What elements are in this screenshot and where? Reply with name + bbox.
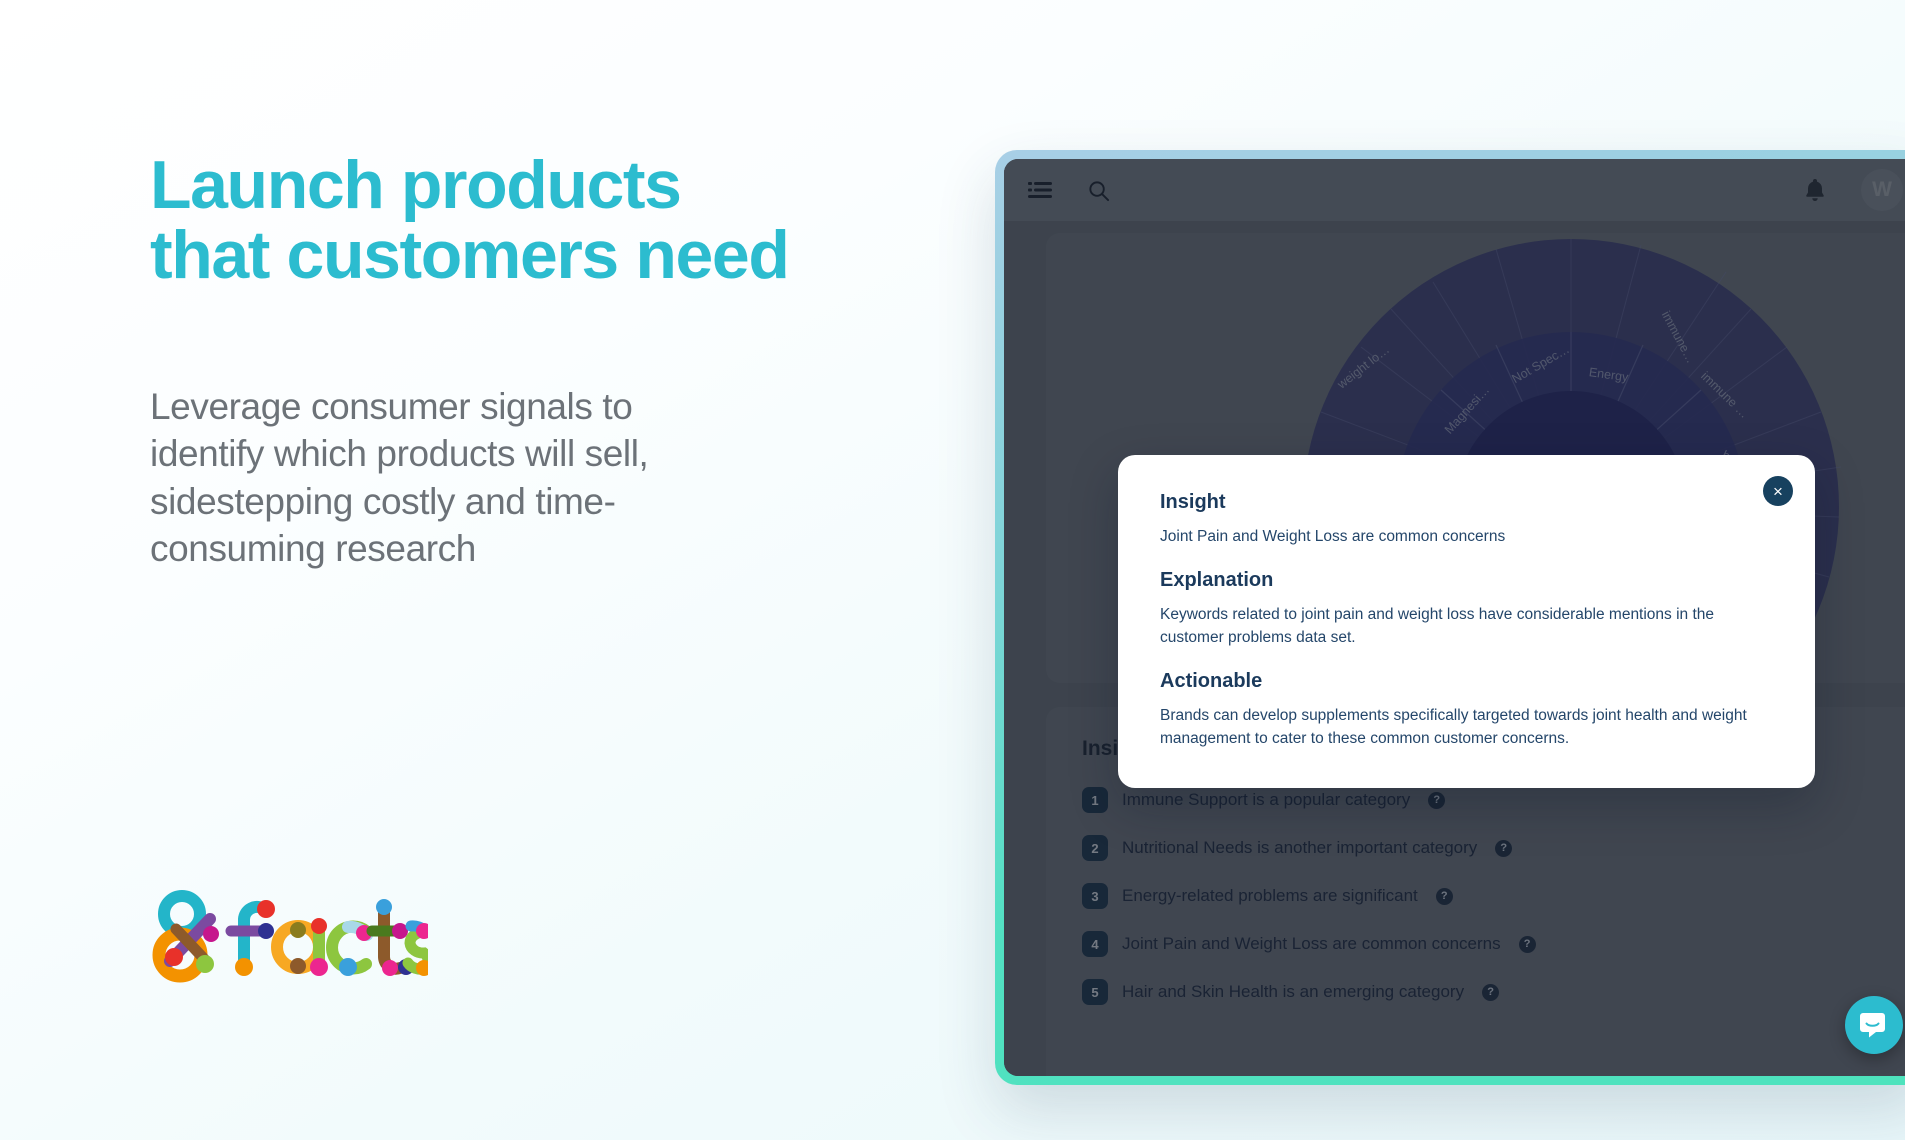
modal-section-heading-actionable: Actionable [1160,670,1773,693]
app-topbar: W [1004,159,1905,221]
chat-bubble-glyph [1859,1011,1889,1039]
insight-detail-modal: × Insight Joint Pain and Weight Loss are… [1118,455,1815,788]
insight-label: Nutritional Needs is another important c… [1122,838,1477,858]
avatar-initial: W [1872,178,1892,202]
insight-badge: 3 [1082,883,1108,909]
page-subtitle: Leverage consumer signals to identify wh… [150,383,840,572]
subhead-line-3: sidestepping costly and time- [150,478,840,525]
list-item[interactable]: 1 Immune Support is a popular category ? [1082,787,1905,813]
modal-section-body-explanation: Keywords related to joint pain and weigh… [1160,604,1773,650]
avatar[interactable]: W [1861,169,1903,211]
help-icon[interactable]: ? [1519,936,1536,953]
subhead-line-4: consuming research [150,525,840,572]
insight-label: Energy-related problems are significant [1122,886,1418,906]
list-item[interactable]: 5 Hair and Skin Health is an emerging ca… [1082,979,1905,1005]
chat-bubble-icon[interactable] [1845,996,1903,1054]
insight-label: Joint Pain and Weight Loss are common co… [1122,934,1501,954]
insight-label: Immune Support is a popular category [1122,790,1410,810]
bell-icon[interactable] [1801,176,1829,204]
modal-section-heading-insight: Insight [1160,491,1773,514]
close-icon[interactable]: × [1763,476,1793,506]
marketing-panel: Launch products that customers need Leve… [0,0,1000,1140]
insight-label: Hair and Skin Health is an emerging cate… [1122,982,1464,1002]
subhead-line-1: Leverage consumer signals to [150,383,840,430]
insight-badge: 4 [1082,931,1108,957]
headline-line-1: Launch products [150,150,940,220]
list-item[interactable]: 4 Joint Pain and Weight Loss are common … [1082,931,1905,957]
insight-badge: 5 [1082,979,1108,1005]
help-icon[interactable]: ? [1495,840,1512,857]
andfacts-logo [148,885,428,990]
page-root: Launch products that customers need Leve… [0,0,1905,1140]
help-icon[interactable]: ? [1482,984,1499,1001]
search-icon[interactable] [1084,176,1112,204]
subhead-line-2: identify which products will sell, [150,430,840,477]
help-icon[interactable]: ? [1428,792,1445,809]
help-icon[interactable]: ? [1436,888,1453,905]
modal-section-heading-explanation: Explanation [1160,569,1773,592]
modal-section-body-actionable: Brands can develop supplements specifica… [1160,705,1773,751]
topbar-left-group [1026,176,1112,204]
headline-line-2: that customers need [150,220,940,290]
list-item[interactable]: 2 Nutritional Needs is another important… [1082,835,1905,861]
list-item[interactable]: 3 Energy-related problems are significan… [1082,883,1905,909]
topbar-right-group: W [1801,159,1903,221]
insight-badge: 1 [1082,787,1108,813]
modal-section-body-insight: Joint Pain and Weight Loss are common co… [1160,526,1773,549]
hamburger-menu-icon[interactable] [1026,176,1054,204]
insight-badge: 2 [1082,835,1108,861]
page-title: Launch products that customers need [150,150,940,290]
